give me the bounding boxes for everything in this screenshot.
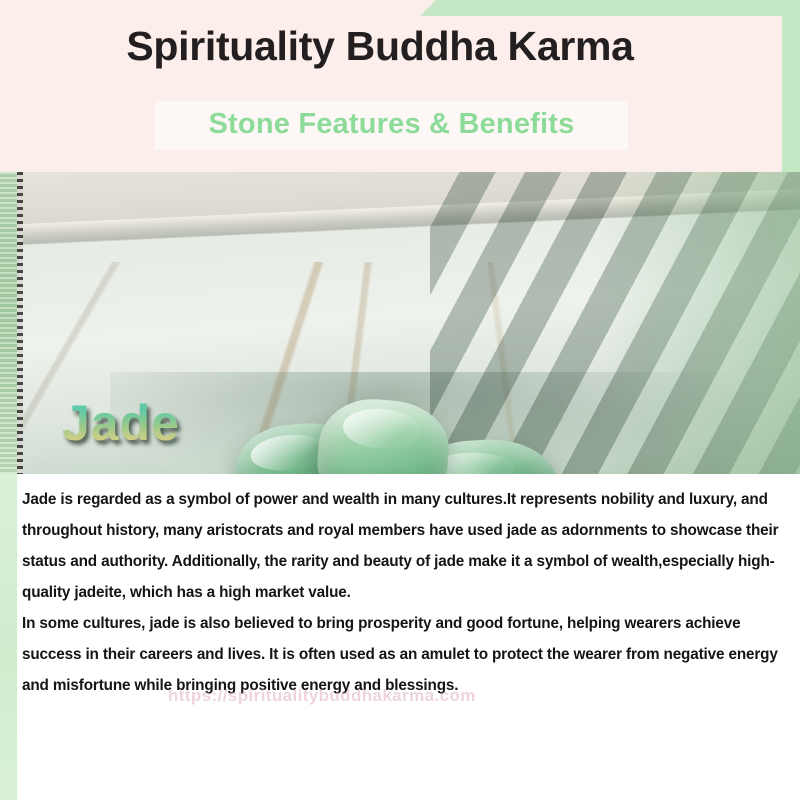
subtitle-banner: Stone Features & Benefits [155, 101, 628, 150]
header-green-accent-band [420, 0, 800, 16]
body-left-green-strip [0, 474, 17, 800]
page-title: Spirituality Buddha Karma [0, 26, 760, 67]
subtitle-text: Stone Features & Benefits [155, 109, 628, 141]
description-paragraph-2: In some cultures, jade is also believed … [22, 608, 790, 701]
header-green-right-edge [782, 0, 800, 172]
stone-highlight [249, 431, 328, 473]
stone-highlight [342, 406, 423, 452]
photo-left-green-strip [0, 172, 17, 474]
photo-left-film-edge [17, 172, 23, 474]
description-section: Jade is regarded as a symbol of power an… [0, 474, 800, 800]
header-section: Spirituality Buddha Karma Stone Features… [0, 0, 800, 172]
product-info-banner: Spirituality Buddha Karma Stone Features… [0, 0, 800, 800]
description-text: Jade is regarded as a symbol of power an… [22, 484, 790, 701]
photo-green-color-cast [600, 172, 800, 474]
description-paragraph-1: Jade is regarded as a symbol of power an… [22, 484, 790, 608]
stone-name-label: Jade [62, 398, 180, 448]
